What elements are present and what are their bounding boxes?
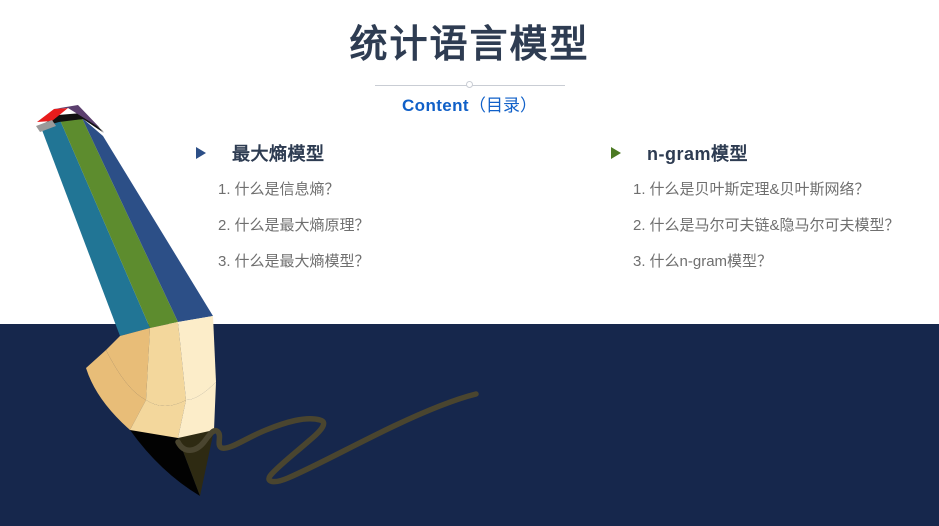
list-item-number: 2. bbox=[633, 217, 646, 234]
subtitle-paren-text: （目录） bbox=[469, 96, 537, 115]
list-item-text: 什么是信息熵？ bbox=[235, 181, 340, 198]
subtitle-main-text: Content bbox=[402, 96, 469, 115]
divider-dot-icon bbox=[466, 81, 473, 88]
triangle-right-icon bbox=[611, 147, 621, 159]
list-item: 3.什么是最大熵模型？ bbox=[218, 254, 501, 290]
subtitle: Content（目录） bbox=[0, 95, 939, 117]
list-item-number: 2. bbox=[218, 217, 231, 234]
list-item-number: 3. bbox=[218, 253, 231, 270]
column-title: n-gram模型 bbox=[647, 140, 748, 166]
column-title: 最大熵模型 bbox=[232, 140, 325, 166]
column-list-max-entropy: 1.什么是信息熵？ 2.什么是最大熵原理？ 3.什么是最大熵模型？ bbox=[196, 182, 501, 289]
list-item-text: 什么是贝叶斯定理&贝叶斯网络？ bbox=[650, 181, 870, 198]
list-item: 1.什么是贝叶斯定理&贝叶斯网络？ bbox=[633, 182, 916, 218]
list-item-text: 什么是最大熵原理？ bbox=[235, 217, 370, 234]
title-block: 统计语言模型 Content（目录） bbox=[0, 22, 939, 117]
column-max-entropy: 最大熵模型 1.什么是信息熵？ 2.什么是最大熵原理？ 3.什么是最大熵模型？ bbox=[196, 140, 501, 289]
column-heading-max-entropy: 最大熵模型 bbox=[196, 140, 501, 166]
title-divider bbox=[375, 79, 565, 91]
list-item: 3.什么n-gram模型？ bbox=[633, 254, 916, 290]
list-item: 1.什么是信息熵？ bbox=[218, 182, 501, 218]
column-ngram: n-gram模型 1.什么是贝叶斯定理&贝叶斯网络？ 2.什么是马尔可夫链&隐马… bbox=[611, 140, 916, 289]
content-columns: 最大熵模型 1.什么是信息熵？ 2.什么是最大熵原理？ 3.什么是最大熵模型？ … bbox=[196, 140, 916, 289]
list-item-number: 1. bbox=[633, 181, 646, 198]
slide-canvas: 统计语言模型 Content（目录） 最大熵模型 1.什么是信息熵？ 2.什么是… bbox=[0, 0, 939, 526]
list-item-number: 1. bbox=[218, 181, 231, 198]
bottom-navy-band bbox=[0, 324, 939, 526]
list-item-number: 3. bbox=[633, 253, 646, 270]
list-item: 2.什么是马尔可夫链&隐马尔可夫模型？ bbox=[633, 218, 916, 254]
list-item-text: 什么是最大熵模型？ bbox=[235, 253, 370, 270]
list-item: 2.什么是最大熵原理？ bbox=[218, 218, 501, 254]
column-list-ngram: 1.什么是贝叶斯定理&贝叶斯网络？ 2.什么是马尔可夫链&隐马尔可夫模型？ 3.… bbox=[611, 182, 916, 289]
list-item-text: 什么n-gram模型？ bbox=[650, 253, 773, 270]
column-heading-ngram: n-gram模型 bbox=[611, 140, 916, 166]
page-title: 统计语言模型 bbox=[0, 22, 939, 70]
triangle-right-icon bbox=[196, 147, 206, 159]
list-item-text: 什么是马尔可夫链&隐马尔可夫模型？ bbox=[650, 217, 900, 234]
